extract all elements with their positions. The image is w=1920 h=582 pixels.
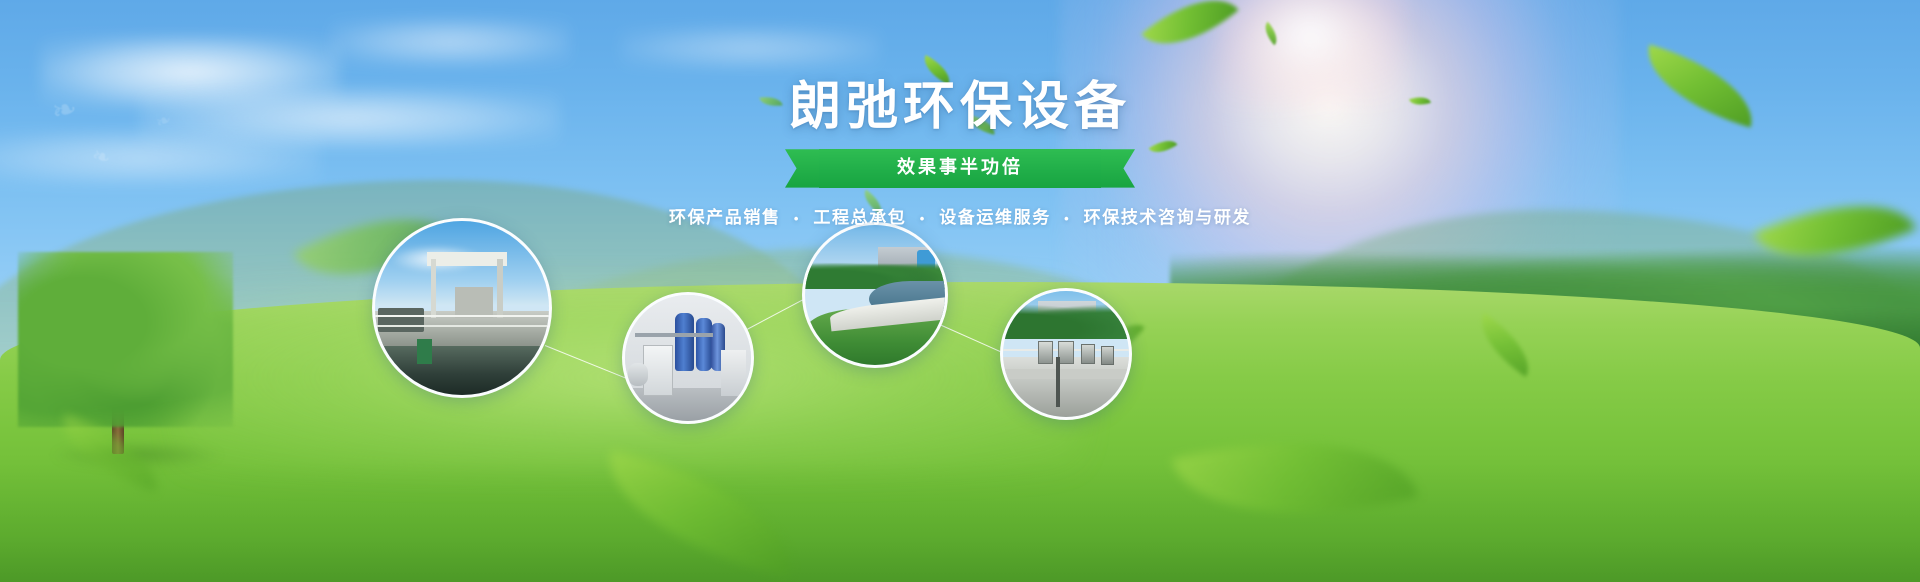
- service-item-1: 环保产品销售: [669, 208, 781, 227]
- ribbon-banner: 效果事半功倍: [819, 149, 1101, 187]
- photo-circle-clarifier-basin-park[interactable]: [802, 222, 948, 368]
- hero-banner: ❧ ❧ ❧ 朗弛环保设备 效果事半功倍 环保产品销售 • 工程总承包 • 设备运…: [0, 0, 1920, 582]
- photo-circle-sewage-treatment-bridge[interactable]: [372, 218, 552, 398]
- banner-text-block: 朗弛环保设备 效果事半功倍 环保产品销售 • 工程总承包 • 设备运维服务 • …: [0, 78, 1920, 228]
- separator-dot-2: •: [920, 211, 926, 226]
- service-item-4: 环保技术咨询与研发: [1084, 208, 1251, 227]
- separator-dot-3: •: [1064, 211, 1070, 226]
- photo-circle-aeration-control-panels[interactable]: [1000, 288, 1132, 420]
- photo-circle-equipment-room-tanks[interactable]: [622, 292, 754, 424]
- services-subtitle: 环保产品销售 • 工程总承包 • 设备运维服务 • 环保技术咨询与研发: [0, 203, 1920, 228]
- separator-dot-1: •: [794, 211, 800, 226]
- ribbon-label: 效果事半功倍: [819, 149, 1101, 187]
- service-item-3: 设备运维服务: [939, 208, 1051, 227]
- ribbon-tail-left: [785, 149, 819, 187]
- service-item-2: 工程总承包: [813, 208, 906, 227]
- page-title: 朗弛环保设备: [0, 78, 1920, 136]
- ribbon-tail-right: [1101, 149, 1135, 187]
